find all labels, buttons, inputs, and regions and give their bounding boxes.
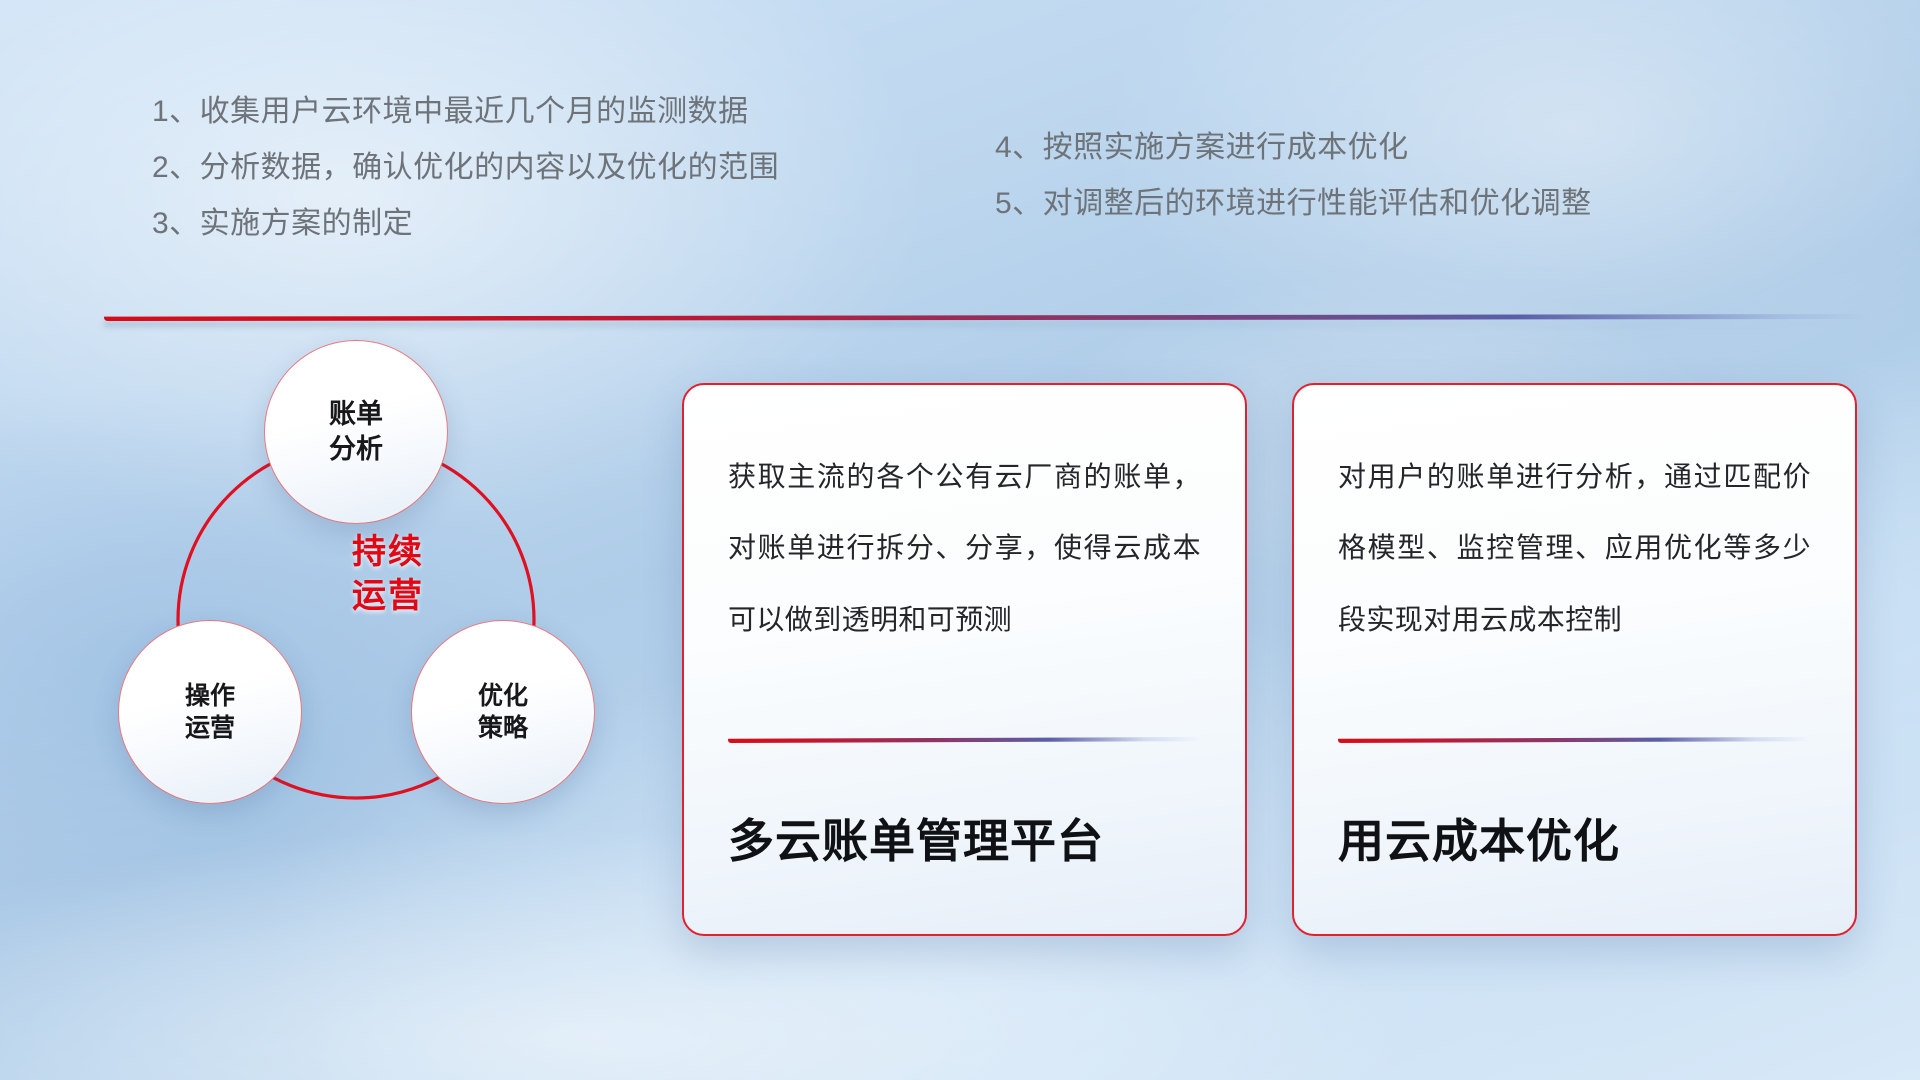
list-item: 4、按照实施方案进行成本优化 <box>995 120 1592 176</box>
diagram-node-bill-analysis[interactable]: 账单 分析 <box>264 340 448 524</box>
steps-left-column: 1、收集用户云环境中最近几个月的监测数据 2、分析数据，确认优化的内容以及优化的… <box>152 84 779 252</box>
node-label-line1: 操作 <box>185 680 235 712</box>
feature-card-multicloud-billing[interactable]: 获取主流的各个公有云厂商的账单，对账单进行拆分、分享，使得云成本可以做到透明和可… <box>682 383 1247 936</box>
node-label-line2: 策略 <box>478 712 528 744</box>
list-item: 2、分析数据，确认优化的内容以及优化的范围 <box>152 140 779 196</box>
divider-shadow <box>104 321 1870 327</box>
node-label-line1: 账单 <box>329 397 383 432</box>
node-label-line2: 分析 <box>329 432 383 467</box>
center-label-line2: 运营 <box>308 574 468 618</box>
steps-right-column: 4、按照实施方案进行成本优化 5、对调整后的环境进行性能评估和优化调整 <box>995 120 1592 232</box>
card-divider <box>728 737 1201 743</box>
diagram-node-optimization-strategy[interactable]: 优化 策略 <box>411 620 595 804</box>
continuous-operations-diagram: 账单 分析 操作 运营 优化 策略 持续 运营 <box>96 352 656 932</box>
card-divider <box>1338 737 1811 743</box>
diagram-node-operations[interactable]: 操作 运营 <box>118 620 302 804</box>
feature-card-cloud-cost-optimization[interactable]: 对用户的账单进行分析，通过匹配价格模型、监控管理、应用优化等多少段实现对用云成本… <box>1292 383 1857 936</box>
node-label-line1: 优化 <box>478 680 528 712</box>
card-body-text: 获取主流的各个公有云厂商的账单，对账单进行拆分、分享，使得云成本可以做到透明和可… <box>728 441 1201 731</box>
steps-list: 1、收集用户云环境中最近几个月的监测数据 2、分析数据，确认优化的内容以及优化的… <box>0 84 1920 274</box>
center-label-line1: 持续 <box>308 530 468 574</box>
card-title: 多云账单管理平台 <box>728 805 1201 871</box>
list-item: 3、实施方案的制定 <box>152 196 779 252</box>
list-item: 1、收集用户云环境中最近几个月的监测数据 <box>152 84 779 140</box>
diagram-center-label: 持续 运营 <box>308 530 468 618</box>
node-label-line2: 运营 <box>185 712 235 744</box>
card-body-text: 对用户的账单进行分析，通过匹配价格模型、监控管理、应用优化等多少段实现对用云成本… <box>1338 441 1811 731</box>
list-item: 5、对调整后的环境进行性能评估和优化调整 <box>995 176 1592 232</box>
card-title: 用云成本优化 <box>1338 805 1811 871</box>
